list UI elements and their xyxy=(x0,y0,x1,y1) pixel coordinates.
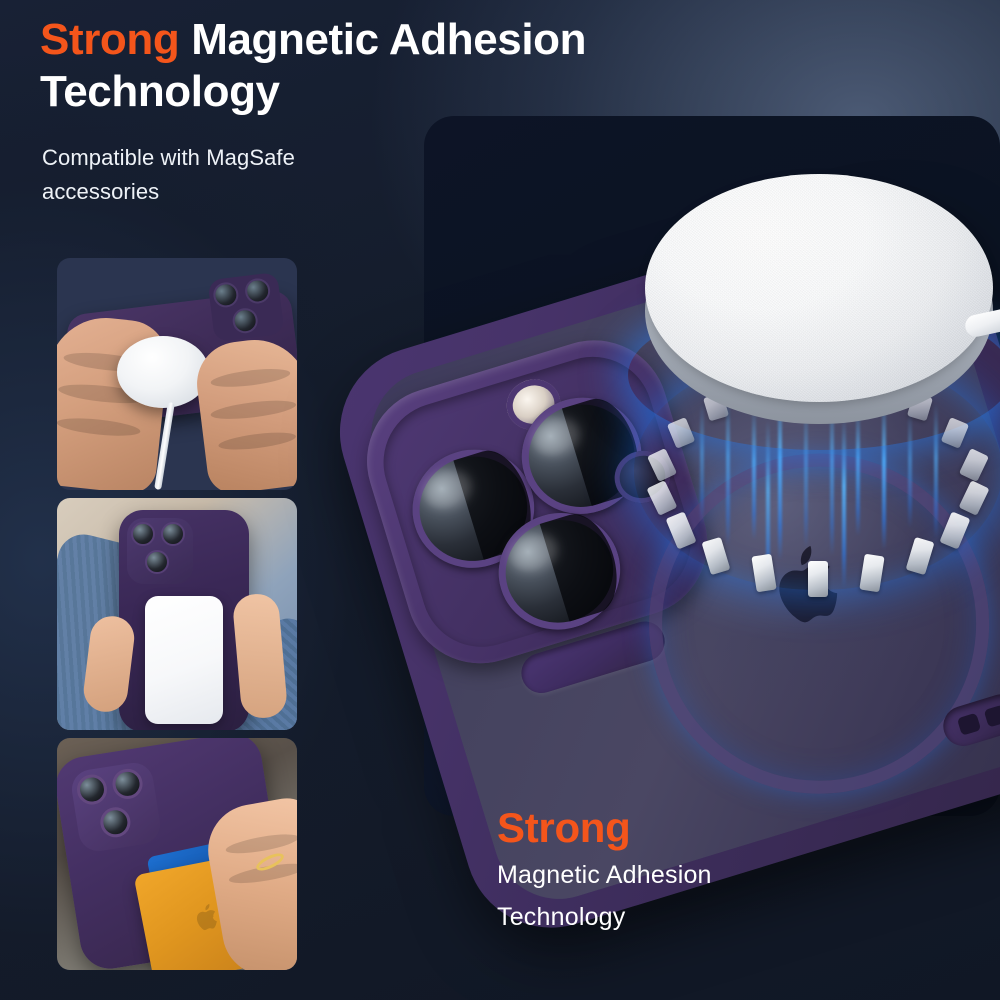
thumbnail-column xyxy=(57,258,297,978)
subtitle-line-2: accessories xyxy=(42,175,472,209)
headline-line-1-rest: Magnetic Adhesion xyxy=(191,15,586,64)
thumb1-right-hand xyxy=(192,334,297,490)
magnet-segment xyxy=(905,537,934,576)
magnet-segment xyxy=(941,417,969,448)
headline-bottom-accent-word: Strong xyxy=(497,805,917,851)
thumb2-camera-module xyxy=(127,518,193,584)
thumb2-magsafe-battery-pack xyxy=(145,596,223,724)
magnet-segment xyxy=(939,511,970,549)
magnet-segment xyxy=(666,511,697,549)
headline-bottom-line-1: Magnetic Adhesion xyxy=(497,857,917,893)
magnet-segment xyxy=(859,554,884,592)
headline-line-2: Technology xyxy=(40,66,760,118)
thumb2-phone-case xyxy=(119,510,249,730)
magsafe-charger-puck xyxy=(645,174,993,414)
magnet-segment xyxy=(958,480,989,516)
headline-line-1: Strong Magnetic Adhesion xyxy=(40,14,760,66)
puck-texture xyxy=(645,174,993,402)
product-graphic-canvas: Strong Magnetic Adhesion Technology Comp… xyxy=(0,0,1000,1000)
magnet-segment xyxy=(647,448,677,482)
puck-top-surface xyxy=(645,174,993,402)
magnet-segment xyxy=(751,554,776,592)
headline-bottom-block: Strong Magnetic Adhesion Technology xyxy=(497,805,917,935)
thumbnail-battery-pack[interactable] xyxy=(57,498,297,730)
magnet-segment xyxy=(959,448,989,482)
magnet-segment xyxy=(647,480,678,516)
headline-accent-word: Strong xyxy=(40,15,179,64)
magnet-segment xyxy=(667,417,695,448)
thumbnail-magsafe-wallet[interactable] xyxy=(57,738,297,970)
thumb1-magsafe-puck xyxy=(117,336,209,408)
headline-block: Strong Magnetic Adhesion Technology xyxy=(40,14,760,118)
magnet-segment xyxy=(808,561,828,597)
subtitle-block: Compatible with MagSafe accessories xyxy=(42,141,472,209)
thumb1-camera-module xyxy=(207,272,284,342)
magnet-segment xyxy=(702,537,731,576)
thumb3-camera-module xyxy=(69,760,163,854)
headline-bottom-line-2: Technology xyxy=(497,899,917,935)
thumbnail-magsafe-charger[interactable] xyxy=(57,258,297,490)
subtitle-line-1: Compatible with MagSafe xyxy=(42,141,472,175)
